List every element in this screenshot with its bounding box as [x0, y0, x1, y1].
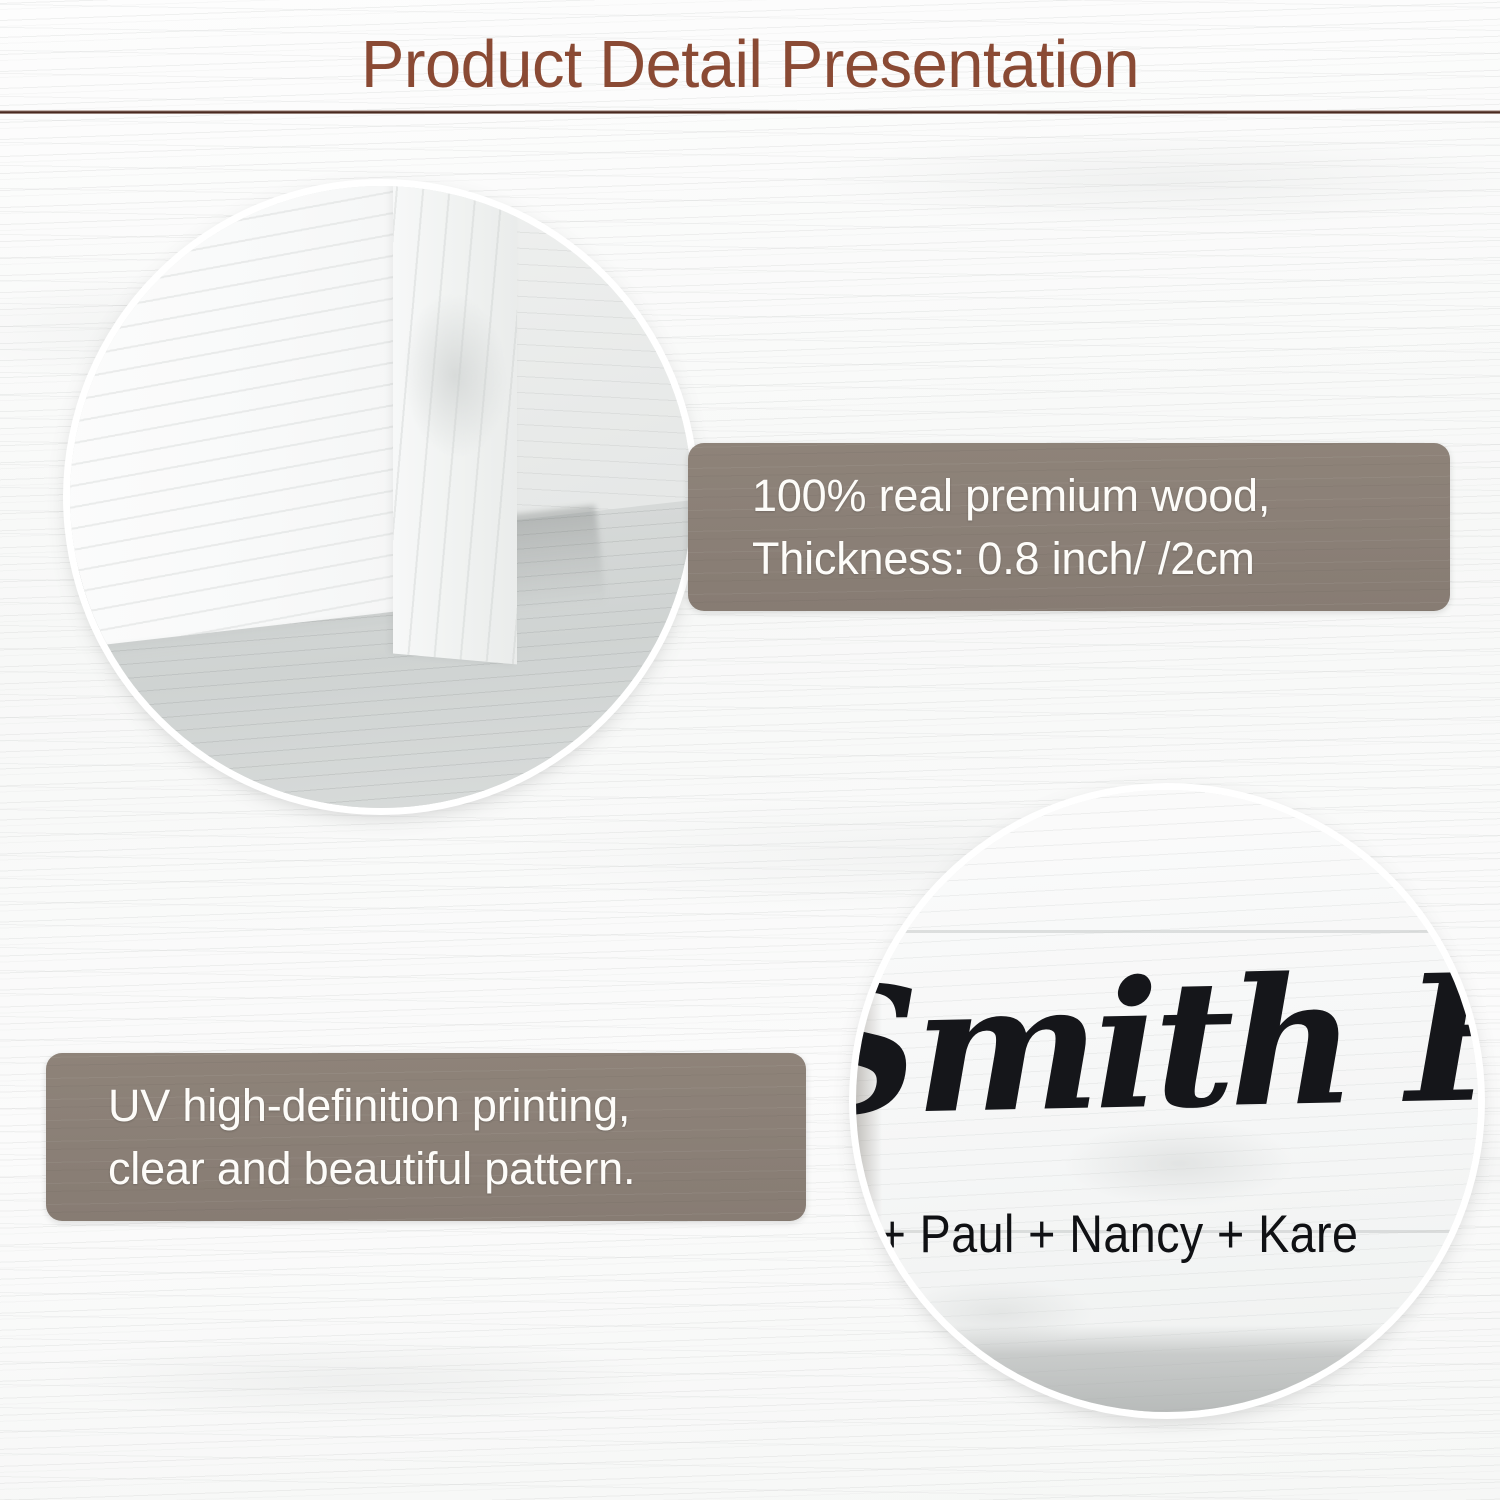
sign-names-text: el + Paul + Nancy + Kare — [856, 1208, 1444, 1261]
board-scene — [70, 186, 692, 808]
product-detail-presentation: Product Detail Presentation 100% real pr… — [0, 0, 1500, 1500]
sign-bottom-shadow — [856, 1325, 1478, 1412]
feature-banner-uv-printing-text: UV high-definition printing, clear and b… — [108, 1074, 635, 1200]
page-title: Product Detail Presentation — [23, 26, 1478, 103]
feature-banner-wood-thickness: 100% real premium wood, Thickness: 0.8 i… — [688, 443, 1450, 611]
sign-scene: Smith F el + Paul + Nancy + Kare — [856, 790, 1478, 1412]
feature-banner-wood-thickness-text: 100% real premium wood, Thickness: 0.8 i… — [752, 464, 1270, 590]
board-thickness-edge — [393, 186, 517, 664]
title-divider — [0, 110, 1500, 114]
family-name-sign-photo: Smith F el + Paul + Nancy + Kare — [856, 790, 1478, 1412]
sign-script-text: Smith F — [856, 950, 1478, 1140]
white-wood-board-edge-photo — [70, 186, 692, 808]
feature-banner-uv-printing: UV high-definition printing, clear and b… — [46, 1053, 806, 1221]
header: Product Detail Presentation — [0, 0, 1500, 112]
